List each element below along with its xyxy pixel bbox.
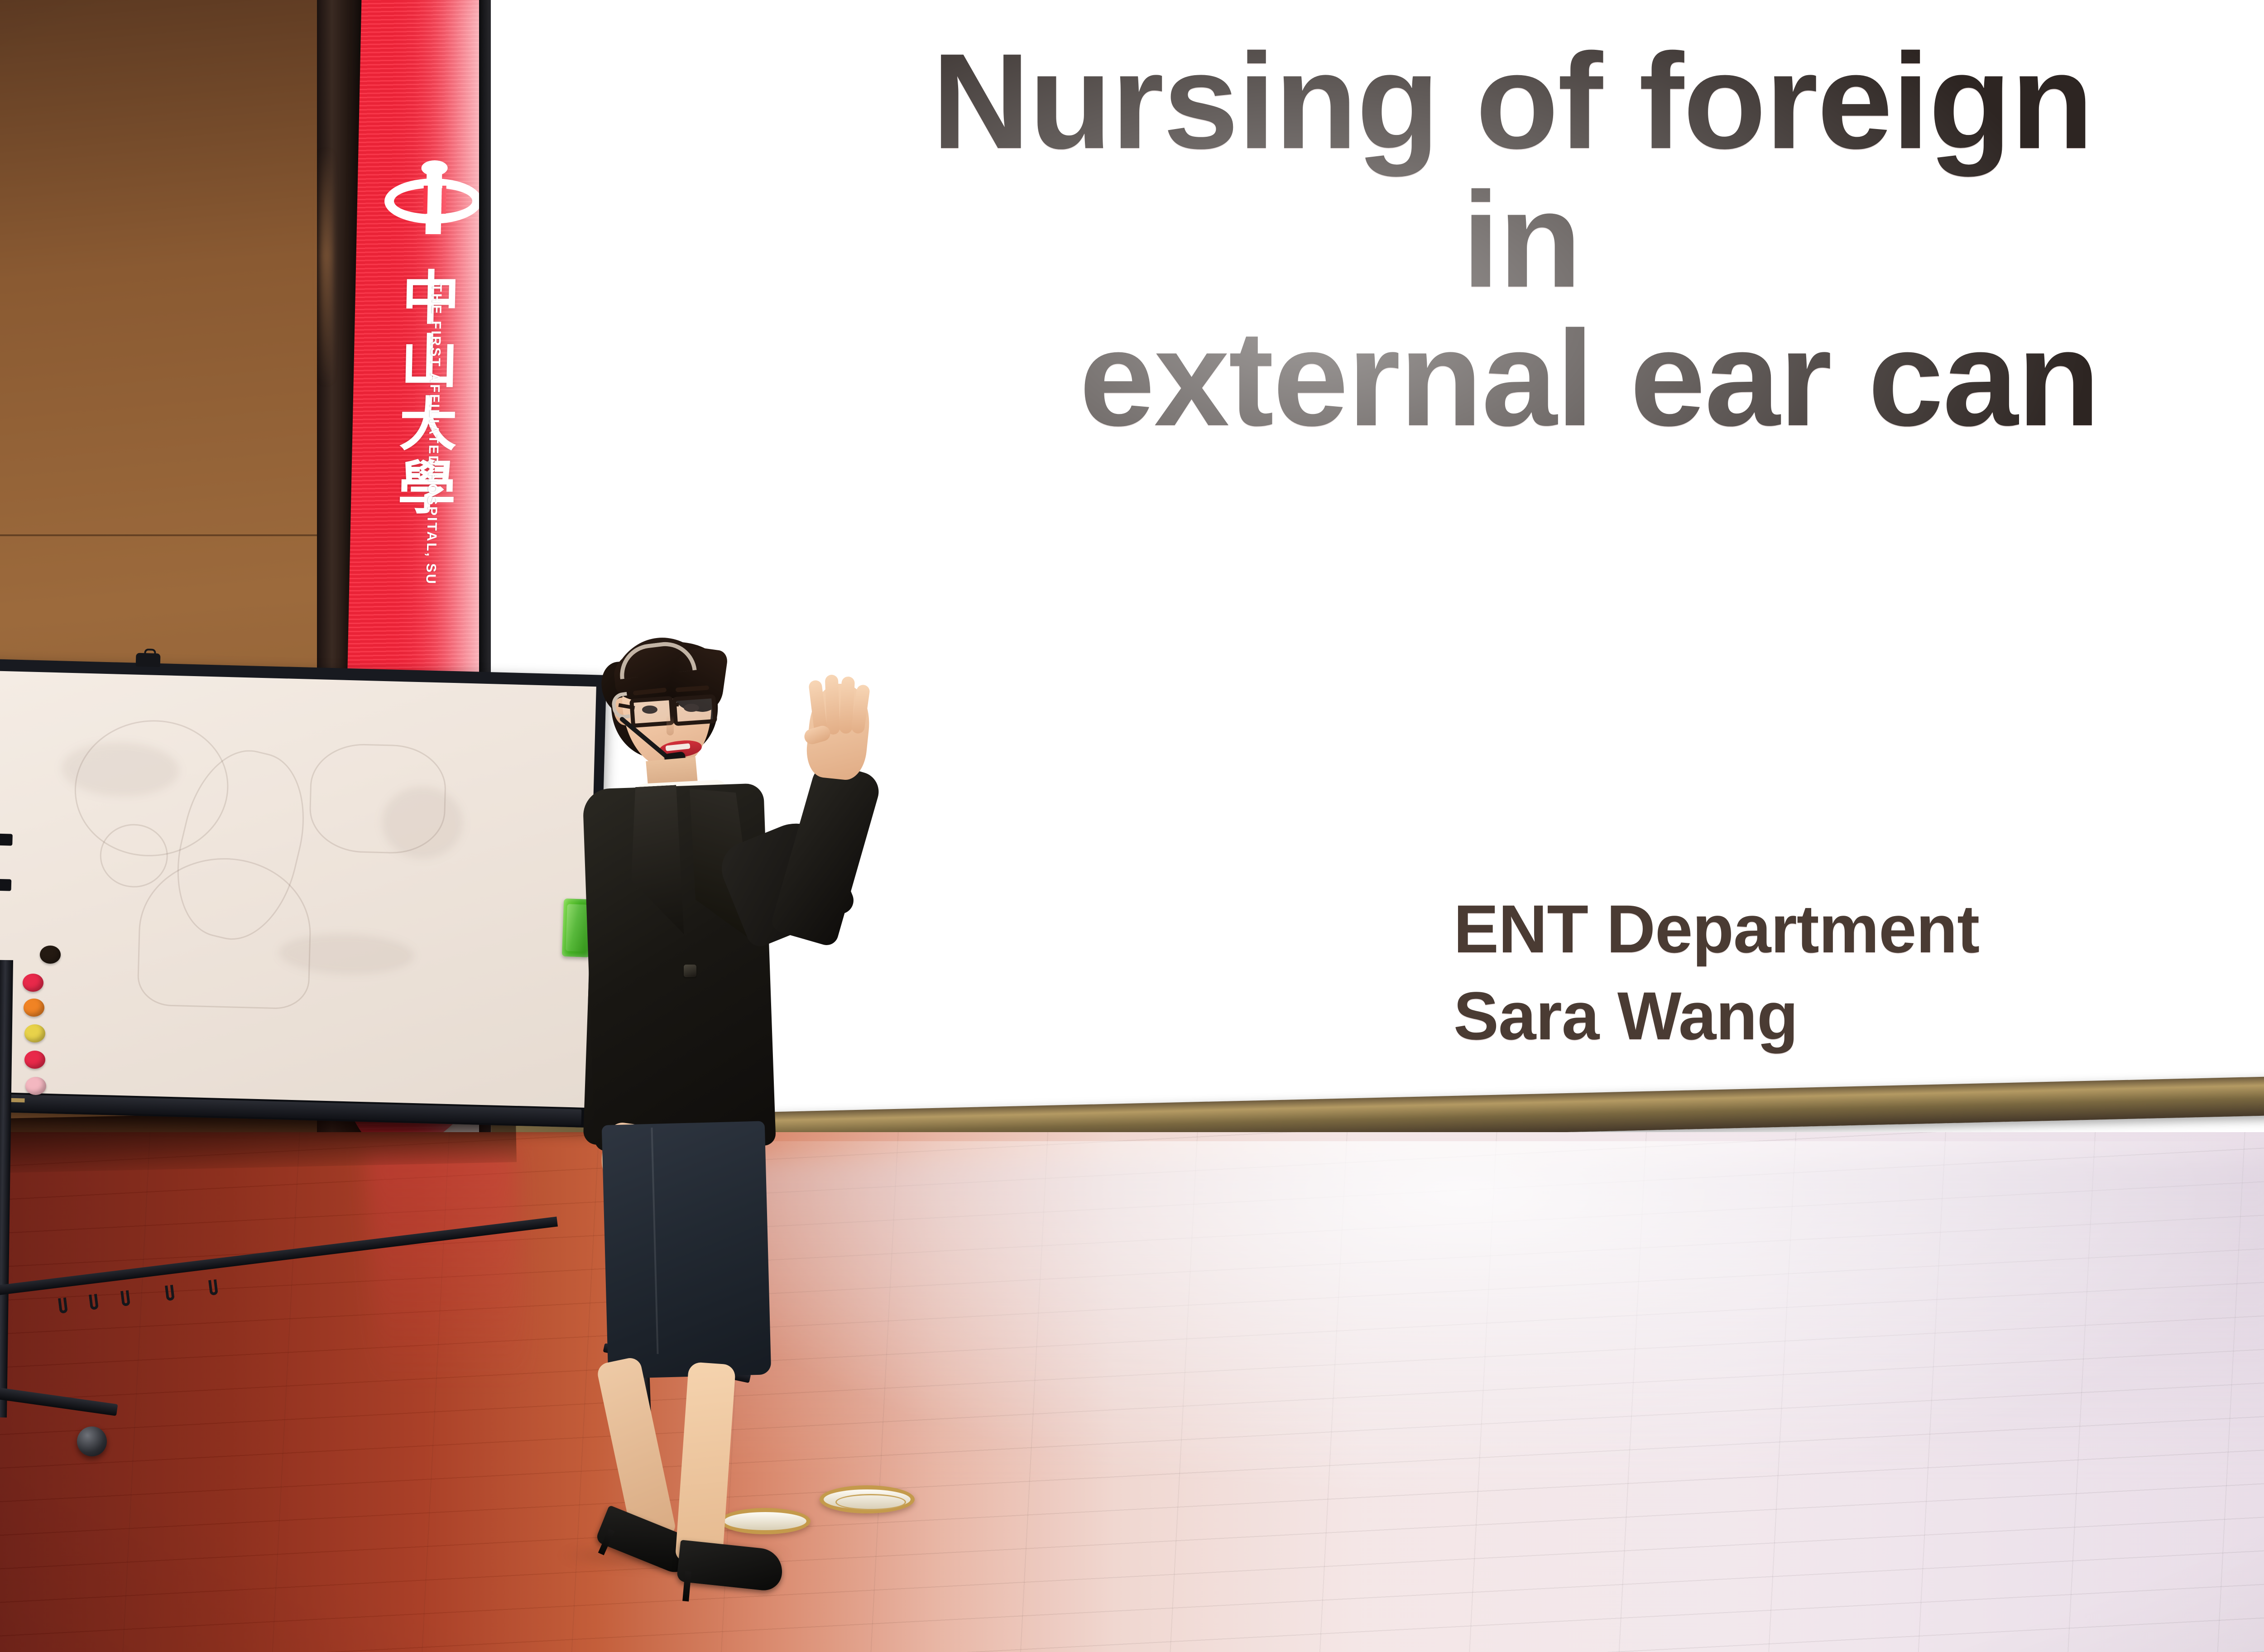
slide-title-line-2: in [534, 170, 2264, 309]
magnet-red-2 [24, 1051, 45, 1069]
blazer-button [684, 965, 696, 977]
whiteboard-frame [0, 659, 607, 1128]
slide-subtitle-line-1: ENT Department [1453, 885, 1979, 972]
slide-subtitle-line-2: Sara Wang [1453, 972, 1979, 1059]
whiteboard-top-clip [136, 653, 161, 667]
magnet-pink [25, 1077, 46, 1095]
whiteboard-caster-wheel [77, 1426, 107, 1456]
presenter [534, 629, 910, 1576]
hospital-logo-icon [384, 163, 482, 238]
magnet-black [40, 946, 61, 964]
presenter-skirt [602, 1121, 772, 1378]
slide-subtitle: ENT Department Sara Wang [1453, 885, 1979, 1059]
slide-title-line-3: external ear can [670, 309, 2264, 447]
magnet-yellow [24, 1024, 45, 1042]
slide-title-line-1: Nursing of foreign [516, 32, 2264, 170]
whiteboard-hinge [0, 834, 13, 846]
slide-title: Nursing of foreign in external ear can [534, 32, 2264, 447]
magnet-orange [24, 999, 44, 1017]
wall-column-highlight [320, 149, 332, 385]
whiteboard [0, 659, 620, 1155]
eyeglasses-icon [672, 694, 717, 726]
whiteboard-surface [0, 671, 596, 1108]
wall-panel-seam [0, 534, 358, 536]
presenter-blazer [582, 783, 776, 1151]
whiteboard-hinge [0, 879, 11, 891]
stage-floor [0, 1132, 2264, 1652]
magnet-red [23, 974, 43, 992]
presentation-photo-scene: 中 山 大 學 THE FIRST AFFILIATED HOSPITAL, S… [0, 0, 2264, 1652]
